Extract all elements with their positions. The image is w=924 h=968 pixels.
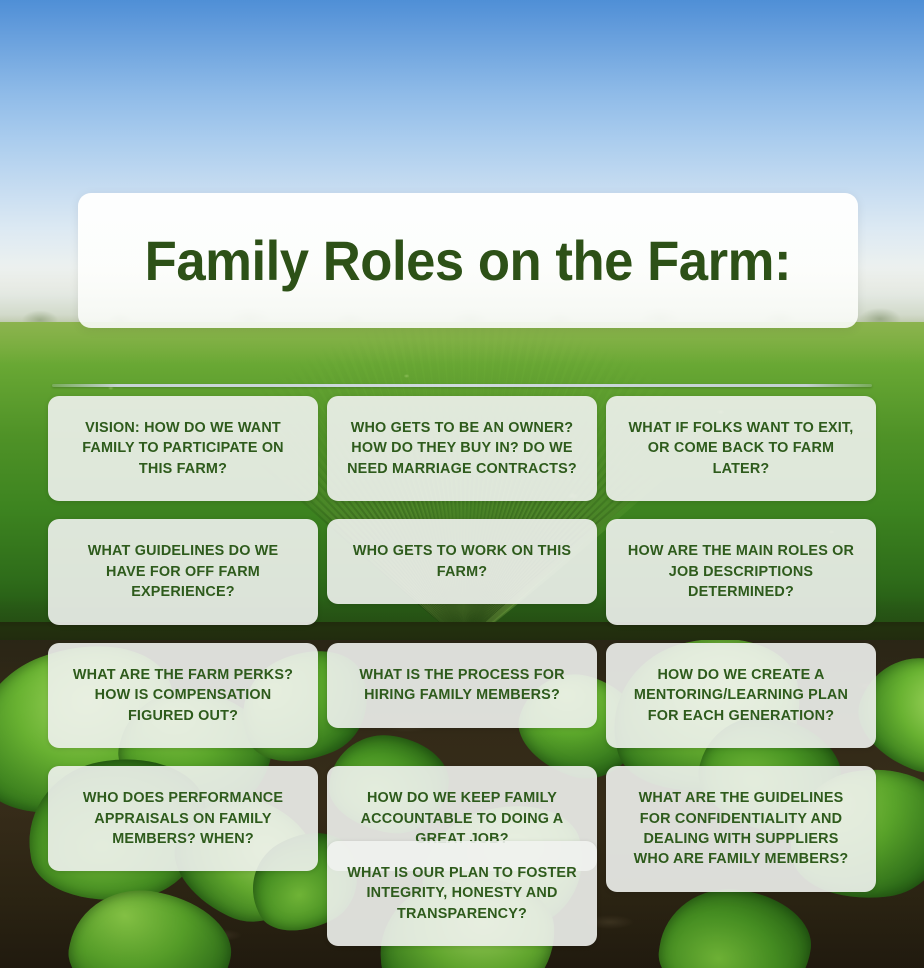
question-card-text: HOW ARE THE MAIN ROLES OR JOB DESCRIPTIO… xyxy=(624,541,858,602)
question-card-cell: HOW ARE THE MAIN ROLES OR JOB DESCRIPTIO… xyxy=(606,519,876,624)
question-card[interactable]: WHAT GUIDELINES DO WE HAVE FOR OFF FARM … xyxy=(48,519,318,624)
question-card-text: WHAT ARE THE FARM PERKS? HOW IS COMPENSA… xyxy=(66,665,300,726)
question-card-cell: HOW DO WE CREATE A MENTORING/LEARNING PL… xyxy=(606,643,876,748)
question-card-text: WHAT IS THE PROCESS FOR HIRING FAMILY ME… xyxy=(345,665,579,706)
question-card[interactable]: VISION: HOW DO WE WANT FAMILY TO PARTICI… xyxy=(48,396,318,501)
question-card-cell: WHAT GUIDELINES DO WE HAVE FOR OFF FARM … xyxy=(48,519,318,624)
question-card-cell: WHO GETS TO WORK ON THIS FARM? xyxy=(327,519,597,624)
question-card-text: WHAT GUIDELINES DO WE HAVE FOR OFF FARM … xyxy=(66,541,300,602)
page-title: Family Roles on the Farm: xyxy=(145,230,791,292)
question-card-cell: VISION: HOW DO WE WANT FAMILY TO PARTICI… xyxy=(48,396,318,501)
question-card-cell: WHAT IS OUR PLAN TO FOSTER INTEGRITY, HO… xyxy=(327,841,597,946)
question-card[interactable]: WHO GETS TO BE AN OWNER? HOW DO THEY BUY… xyxy=(327,396,597,501)
question-card-last-row: WHAT IS OUR PLAN TO FOSTER INTEGRITY, HO… xyxy=(48,841,876,946)
question-card[interactable]: HOW DO WE CREATE A MENTORING/LEARNING PL… xyxy=(606,643,876,748)
grid-spacer xyxy=(606,841,876,946)
section-divider xyxy=(52,384,872,387)
question-card[interactable]: WHO GETS TO WORK ON THIS FARM? xyxy=(327,519,597,604)
question-card[interactable]: WHAT IS OUR PLAN TO FOSTER INTEGRITY, HO… xyxy=(327,841,597,946)
question-card[interactable]: WHAT ARE THE FARM PERKS? HOW IS COMPENSA… xyxy=(48,643,318,748)
question-card[interactable]: WHAT IF FOLKS WANT TO EXIT, OR COME BACK… xyxy=(606,396,876,501)
grid-spacer xyxy=(48,841,318,946)
question-card-text: VISION: HOW DO WE WANT FAMILY TO PARTICI… xyxy=(66,418,300,479)
title-panel: Family Roles on the Farm: xyxy=(78,193,858,328)
question-card-text: WHAT IF FOLKS WANT TO EXIT, OR COME BACK… xyxy=(624,418,858,479)
question-card-text: WHO GETS TO BE AN OWNER? HOW DO THEY BUY… xyxy=(345,418,579,479)
question-card-cell: WHAT IS THE PROCESS FOR HIRING FAMILY ME… xyxy=(327,643,597,748)
content-layer: Family Roles on the Farm: VISION: HOW DO… xyxy=(0,0,924,968)
question-card-text: WHO GETS TO WORK ON THIS FARM? xyxy=(345,541,579,582)
question-card[interactable]: HOW ARE THE MAIN ROLES OR JOB DESCRIPTIO… xyxy=(606,519,876,624)
infographic-page: Family Roles on the Farm: VISION: HOW DO… xyxy=(0,0,924,968)
question-card-grid: VISION: HOW DO WE WANT FAMILY TO PARTICI… xyxy=(48,396,876,892)
question-card-cell: WHAT ARE THE FARM PERKS? HOW IS COMPENSA… xyxy=(48,643,318,748)
question-card-cell: WHAT IF FOLKS WANT TO EXIT, OR COME BACK… xyxy=(606,396,876,501)
question-card-cell: WHO GETS TO BE AN OWNER? HOW DO THEY BUY… xyxy=(327,396,597,501)
question-card[interactable]: WHAT IS THE PROCESS FOR HIRING FAMILY ME… xyxy=(327,643,597,728)
question-card-text: HOW DO WE CREATE A MENTORING/LEARNING PL… xyxy=(624,665,858,726)
question-card-text: WHAT IS OUR PLAN TO FOSTER INTEGRITY, HO… xyxy=(345,863,579,924)
